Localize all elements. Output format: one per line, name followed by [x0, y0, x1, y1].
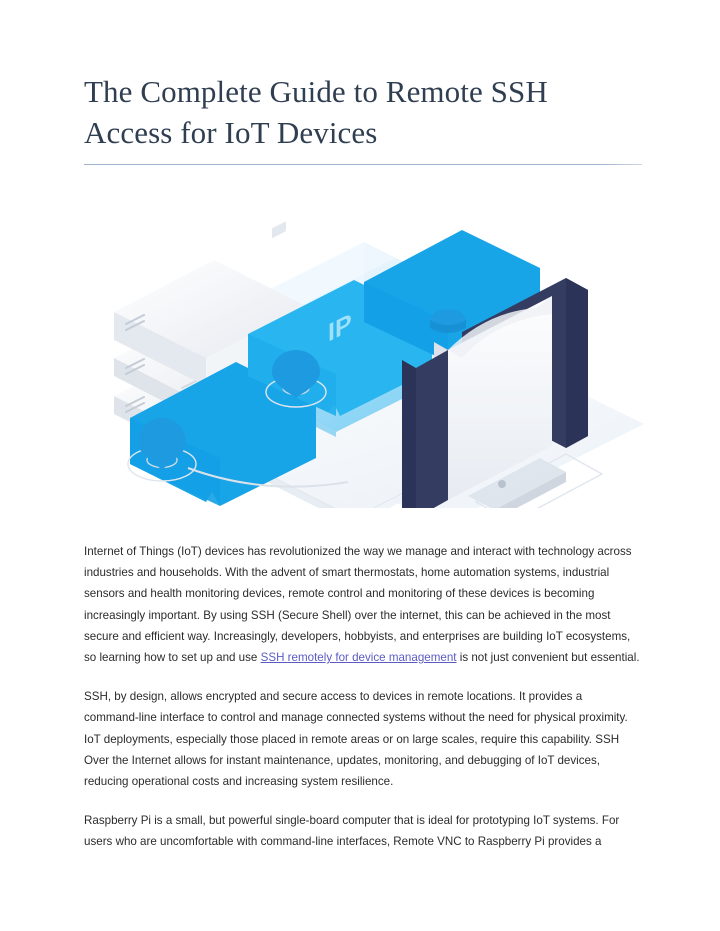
paragraph-3: Raspberry Pi is a small, but powerful si… [84, 810, 640, 852]
page-title: The Complete Guide to Remote SSH Access … [84, 72, 642, 154]
ssh-remote-device-management-link[interactable]: SSH remotely for device management [261, 651, 457, 664]
paragraph-1-text-after-link: is not just convenient but essential. [457, 651, 640, 664]
paragraph-1-text-before-link: Internet of Things (IoT) devices has rev… [84, 545, 632, 664]
paragraph-2: SSH, by design, allows encrypted and sec… [84, 686, 640, 792]
title-block: The Complete Guide to Remote SSH Access … [84, 72, 642, 165]
isometric-scene: IP [96, 196, 644, 508]
article-body: Internet of Things (IoT) devices has rev… [84, 541, 640, 853]
paragraph-1: Internet of Things (IoT) devices has rev… [84, 541, 640, 668]
title-divider [84, 164, 642, 165]
hero-illustration: IP [96, 196, 644, 508]
document-page: The Complete Guide to Remote SSH Access … [0, 0, 720, 931]
